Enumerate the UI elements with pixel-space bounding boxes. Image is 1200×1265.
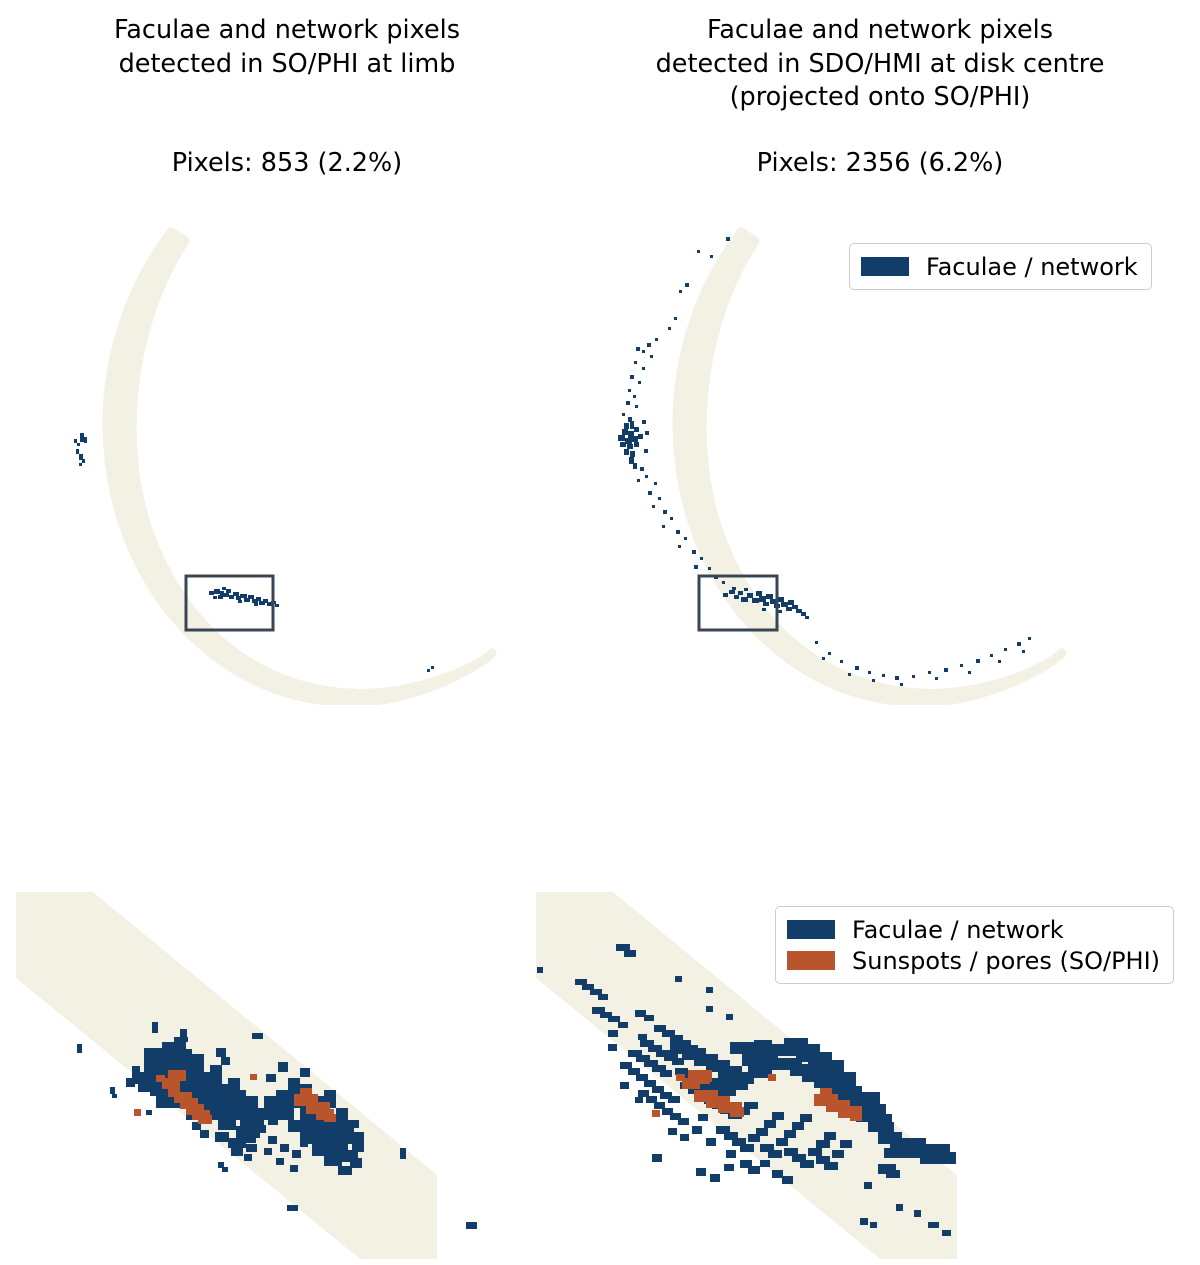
legend-row-sunspots: Sunspots / pores (SO/PHI) (787, 945, 1160, 976)
legend-label-faculae: Faculae / network (926, 255, 1138, 279)
legend-label-sunspots: Sunspots / pores (SO/PHI) (852, 949, 1160, 973)
panel-zoom-so-phi (0, 882, 515, 1265)
quiet-sun-crescent-so-phi (107, 232, 492, 702)
legend-row-faculae: Faculae / network (787, 914, 1160, 945)
legend-bottom: Faculae / network Sunspots / pores (SO/P… (775, 906, 1174, 984)
legend-swatch-sunspots-orange (787, 951, 835, 970)
column-title-sdo-hmi: Faculae and network pixels detected in S… (575, 14, 1185, 115)
column-title-so-phi: Faculae and network pixels detected in S… (20, 14, 554, 81)
figure-canvas: Faculae and network pixels detected in S… (0, 0, 1200, 1265)
pixel-count-sdo-hmi: Pixels: 2356 (6.2%) (575, 148, 1185, 178)
legend-swatch-faculae-navy (861, 257, 909, 276)
legend-swatch-faculae-navy (787, 920, 835, 939)
pixel-count-so-phi: Pixels: 853 (2.2%) (20, 148, 554, 178)
panel-limb-so-phi (30, 205, 530, 705)
quiet-sun-band-so-phi (16, 892, 437, 1259)
legend-top: Faculae / network (849, 243, 1152, 290)
quiet-sun-crescent-sdo-hmi (677, 232, 1062, 702)
legend-label-faculae: Faculae / network (852, 918, 1064, 942)
legend-row-faculae: Faculae / network (861, 251, 1138, 282)
